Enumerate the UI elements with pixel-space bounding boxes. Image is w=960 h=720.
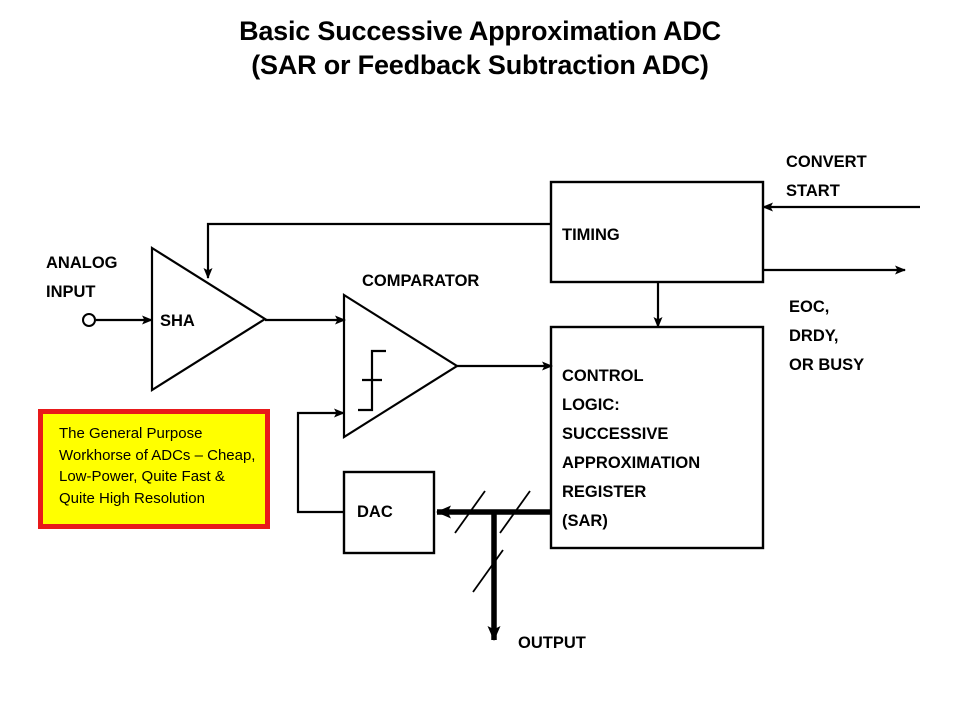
analog-input-label: ANALOG INPUT xyxy=(46,249,118,307)
comparator-label: COMPARATOR xyxy=(362,267,479,296)
callout-box: The General Purpose Workhorse of ADCs – … xyxy=(38,409,270,529)
diagram-canvas: Basic Successive Approximation ADC (SAR … xyxy=(0,0,960,720)
convert-start-label: CONVERT START xyxy=(786,148,867,206)
timing-label: TIMING xyxy=(562,221,620,250)
output-label: OUTPUT xyxy=(518,629,586,658)
callout-text: The General Purpose Workhorse of ADCs – … xyxy=(59,423,259,509)
dac-label: DAC xyxy=(357,498,393,527)
comparator-block xyxy=(344,295,457,437)
analog-input-terminal xyxy=(83,314,95,326)
wire-dac-to-comparator xyxy=(298,413,344,512)
eoc-label: EOC, DRDY, OR BUSY xyxy=(789,293,864,380)
control-logic-label: CONTROL LOGIC: SUCCESSIVE APPROXIMATION … xyxy=(562,362,700,536)
sha-label: SHA xyxy=(160,307,195,336)
